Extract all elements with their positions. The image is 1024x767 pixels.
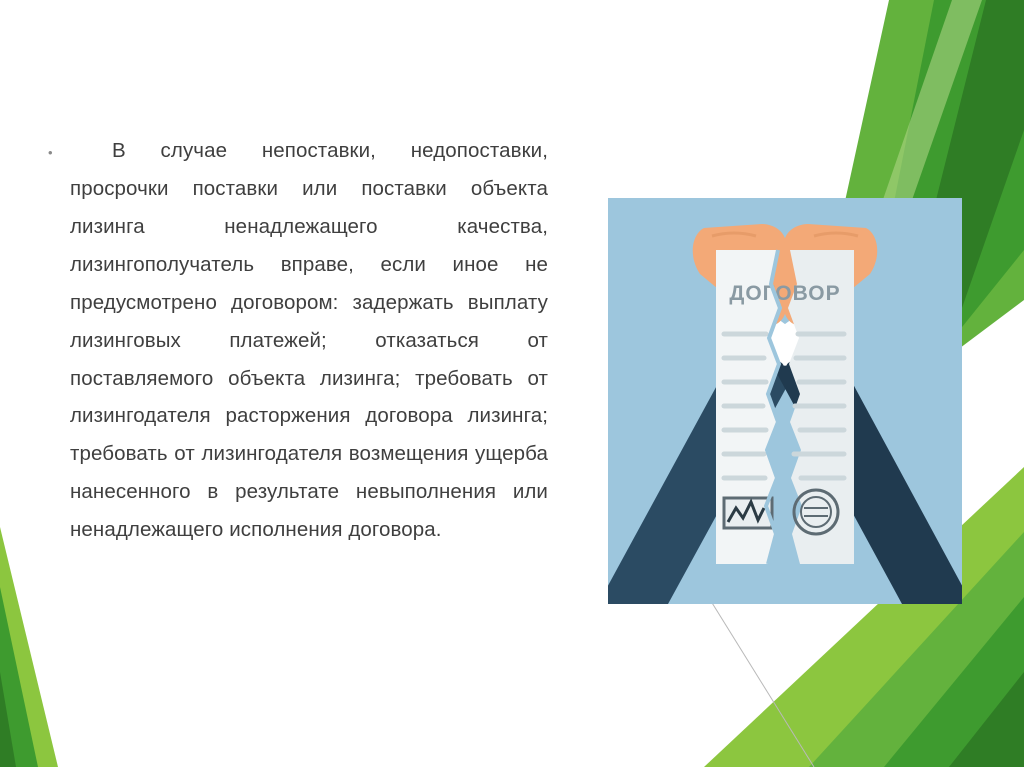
content-block: • В случае непоставки, недопоставки, про… xyxy=(48,132,548,549)
bullet-point-icon: • xyxy=(48,132,70,159)
illustration-svg: ДОГОВОР xyxy=(608,198,962,604)
bullet-list-item: • В случае непоставки, недопоставки, про… xyxy=(48,132,548,549)
document-title-text: ДОГОВОР xyxy=(729,282,840,305)
slide: • В случае непоставки, недопоставки, про… xyxy=(0,0,1024,767)
signature-block xyxy=(724,498,772,528)
torn-contract-illustration: ДОГОВОР xyxy=(608,198,962,604)
body-paragraph: В случае непоставки, недопоставки, проср… xyxy=(70,132,548,549)
